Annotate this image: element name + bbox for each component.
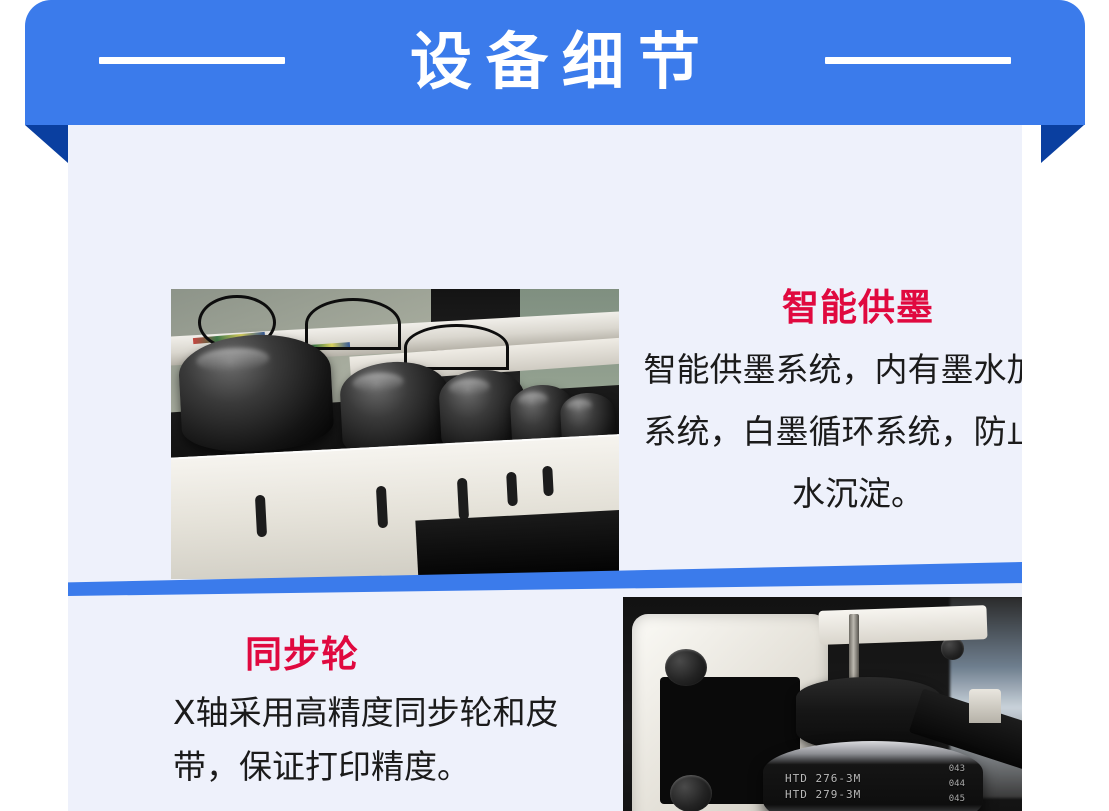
photo2-top-plate [819,606,988,646]
timing-pulley-photo-scene: HTD 276-3M HTD 279-3M 043 044 045 [623,597,1022,811]
photo2-bolt-right [941,637,964,660]
photo2-pulley-num-1: 043 [949,764,965,774]
section-text-ink-supply: 智能供墨 智能供墨系统，内有墨水加热系统，白墨循环系统，防止墨水沉淀。 [638,283,1022,525]
photo-cable-loop-c [404,324,509,371]
photo-ink-bottle-1 [177,331,335,455]
photo-cable-loop-b [305,298,401,350]
section-title-ink-supply: 智能供墨 [638,283,1022,333]
photo-tray-slot-4 [506,471,518,505]
photo-tray-slot-5 [542,466,554,496]
header-banner: 设备细节 [25,0,1085,125]
photo2-pulley-num-3: 045 [949,794,965,804]
photo2-bolt-bottom [670,775,712,811]
photo2-pulley-num-2: 044 [949,779,965,789]
banner-fold-right-icon [1041,125,1084,163]
photo-lower-dark-module [416,510,619,579]
page-title: 设备细节 [25,8,1085,116]
photo-tray-slot-3 [457,477,469,519]
photo2-bolt-top [665,649,707,686]
ink-supply-photo [171,289,619,579]
ink-supply-photo-scene [171,289,619,579]
photo2-pulley-label-1: HTD 276-3M [785,772,861,785]
photo2-pulley-label-2: HTD 279-3M [785,788,861,801]
photo2-tensioner-post [969,689,1002,723]
section-title-timing-pulley: 同步轮 [173,630,573,680]
timing-pulley-photo: HTD 276-3M HTD 279-3M 043 044 045 [623,597,1022,811]
section-text-timing-pulley: 同步轮 X轴采用高精度同步轮和皮带，保证打印精度。 [173,630,573,794]
poster-root: 设备细节 [0,0,1109,811]
section-body-timing-pulley: X轴采用高精度同步轮和皮带，保证打印精度。 [173,686,573,794]
banner-fold-left-icon [25,125,68,163]
content-panel: 智能供墨 智能供墨系统，内有墨水加热系统，白墨循环系统，防止墨水沉淀。 同步轮 … [68,125,1022,811]
photo2-pulley-main: HTD 276-3M HTD 279-3M 043 044 045 [763,741,982,811]
section-body-ink-supply: 智能供墨系统，内有墨水加热系统，白墨循环系统，防止墨水沉淀。 [638,339,1022,525]
